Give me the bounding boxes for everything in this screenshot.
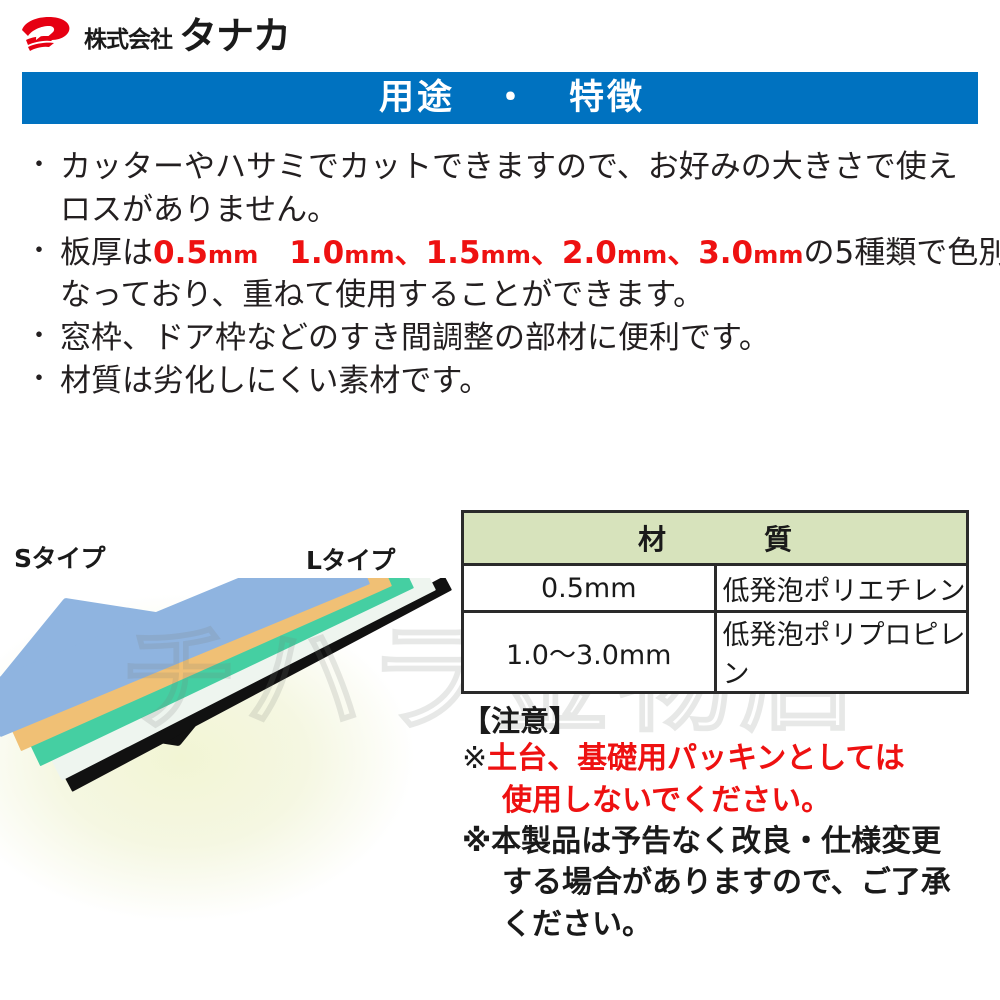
notice-marker: ※	[462, 741, 487, 776]
material-table: 材 質 0.5mm低発泡ポリエチレン1.0〜3.0mm低発泡ポリプロピレン	[461, 510, 969, 694]
bullet-marker-spacer: ・	[26, 191, 60, 227]
material-name-cell: 低発泡ポリプロピレン	[715, 612, 968, 693]
company-logo: 株式会社 タナカ	[18, 10, 290, 62]
bullet-marker: ・	[26, 234, 60, 270]
material-name-cell: 低発泡ポリエチレン	[715, 565, 968, 612]
material-table-row: 1.0〜3.0mm低発泡ポリプロピレン	[463, 612, 968, 693]
label-l-type: Lタイプ	[306, 548, 395, 573]
bullet-marker-spacer: ・	[26, 276, 60, 312]
notice-line: 使用しないでください。	[462, 780, 982, 821]
notice-block: 【注意】 ※土台、基礎用パッキンとしては使用しないでください。※本製品は予告なく…	[462, 704, 982, 945]
notice-text: する場合がありますので、ご了承	[502, 865, 951, 900]
bullet-marker: ・	[26, 362, 60, 398]
product-feature-sheet: 株式会社 タナカ 用途 ・ 特徴 ・カッターやハサミでカットできますので、お好み…	[0, 0, 1000, 1000]
feature-bullet-text: カッターやハサミでカットできますので、お好みの大きさで使え	[60, 146, 958, 189]
notice-text: 本製品は予告なく改良・仕様変更	[491, 824, 941, 859]
bullet-marker: ・	[26, 319, 60, 355]
feature-bullet-text: 板厚は0.5mm 1.0mm、1.5mm、2.0mm、3.0mmの5種類で色別に	[60, 232, 1000, 275]
notice-text: 使用しないでください。	[502, 783, 831, 818]
logo-brand-name: タナカ	[179, 17, 290, 55]
material-table-header: 材 質	[463, 512, 968, 565]
material-size-cell: 0.5mm	[463, 565, 716, 612]
material-size-cell: 1.0〜3.0mm	[463, 612, 716, 693]
notice-text: 土台、基礎用パッキンとしては	[487, 741, 905, 776]
bullet-marker: ・	[26, 148, 60, 184]
feature-bullet-line: ・材質は劣化しにくい素材です。	[26, 360, 971, 403]
material-table-header-row: 材 質	[463, 512, 968, 565]
feature-bullet-line: ・板厚は0.5mm 1.0mm、1.5mm、2.0mm、3.0mmの5種類で色別…	[26, 232, 971, 275]
notice-heading: 【注意】	[462, 704, 982, 738]
section-banner: 用途 ・ 特徴	[22, 72, 978, 128]
notice-line: ください。	[462, 904, 982, 945]
feature-bullet-text: なっており、重ねて使用することができます。	[60, 274, 704, 317]
notice-line: ※土台、基礎用パッキンとしては	[462, 738, 982, 779]
product-photo	[0, 578, 452, 978]
label-s-type: Sタイプ	[14, 546, 105, 571]
notice-marker: ※	[462, 824, 491, 859]
banner-body: 用途 ・ 特徴	[22, 72, 978, 124]
feature-bullet-text: ロスがありません。	[60, 189, 338, 232]
material-table-row: 0.5mm低発泡ポリエチレン	[463, 565, 968, 612]
feature-bullet-text: 窓枠、ドア枠などのすき間調整の部材に便利です。	[60, 317, 770, 360]
feature-list: ・カッターやハサミでカットできますので、お好みの大きさで使え・ロスがありません。…	[26, 146, 971, 403]
tanaka-bird-logo-icon	[18, 14, 74, 58]
banner-title: 用途 ・ 特徴	[379, 81, 645, 116]
logo-company-prefix: 株式会社	[84, 29, 172, 52]
feature-bullet-line: ・ロスがありません。	[26, 189, 971, 232]
feature-bullet-line: ・窓枠、ドア枠などのすき間調整の部材に便利です。	[26, 317, 971, 360]
feature-bullet-text: 材質は劣化しにくい素材です。	[60, 360, 490, 403]
feature-bullet-line: ・カッターやハサミでカットできますので、お好みの大きさで使え	[26, 146, 971, 189]
notice-text: ください。	[502, 907, 652, 942]
notice-line: ※本製品は予告なく改良・仕様変更	[462, 821, 982, 862]
feature-bullet-line: ・なっており、重ねて使用することができます。	[26, 274, 971, 317]
notice-line: する場合がありますので、ご了承	[462, 862, 982, 903]
